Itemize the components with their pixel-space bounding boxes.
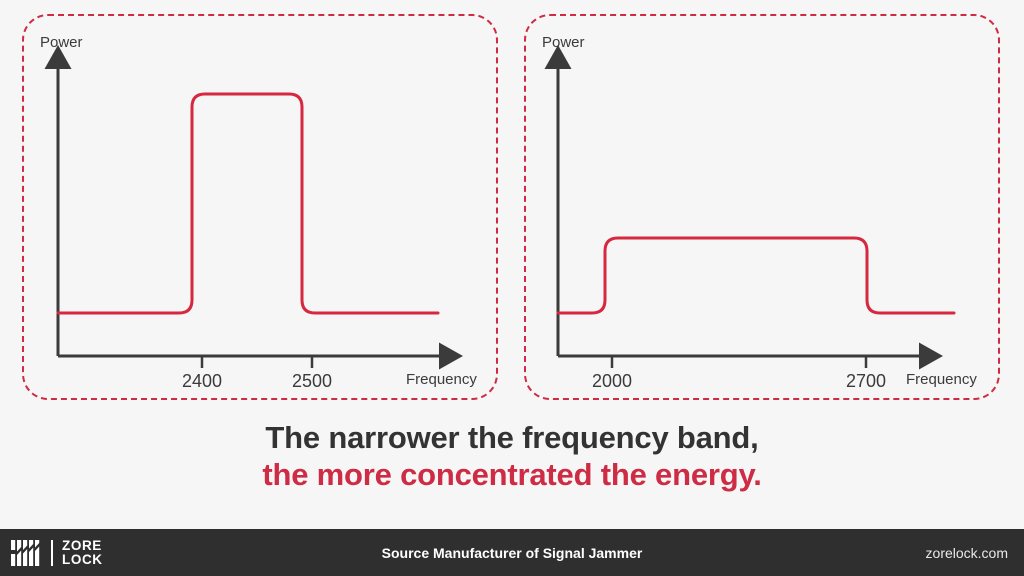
- chart-panel-wide-band: Power Frequency 2000 2700: [524, 14, 1000, 400]
- x-axis-title-narrow: Frequency: [406, 371, 477, 388]
- caption-block: The narrower the frequency band, the mor…: [0, 420, 1024, 493]
- footer-bar: ZORE LOCK Source Manufacturer of Signal …: [0, 529, 1024, 576]
- caption-line-2: the more concentrated the energy.: [0, 457, 1024, 494]
- tick-label-2700: 2700: [846, 371, 886, 392]
- chart-svg-narrow-band: [24, 16, 500, 402]
- caption-line-1: The narrower the frequency band,: [0, 420, 1024, 457]
- signal-curve-wide: [558, 238, 954, 313]
- y-axis-title-wide: Power: [542, 34, 585, 51]
- tick-label-2400: 2400: [182, 371, 222, 392]
- tick-label-2000: 2000: [592, 371, 632, 392]
- slide-root: Power Frequency 2400 2500: [0, 0, 1024, 576]
- x-axis-title-wide: Frequency: [906, 371, 977, 388]
- y-axis-title-narrow: Power: [40, 34, 83, 51]
- chart-svg-wide-band: [526, 16, 1002, 402]
- signal-curve-narrow: [58, 94, 438, 313]
- footer-tagline: Source Manufacturer of Signal Jammer: [0, 545, 1024, 561]
- chart-panel-narrow-band: Power Frequency 2400 2500: [22, 14, 498, 400]
- tick-label-2500: 2500: [292, 371, 332, 392]
- charts-container: Power Frequency 2400 2500: [0, 0, 1024, 415]
- footer-website[interactable]: zorelock.com: [926, 545, 1008, 561]
